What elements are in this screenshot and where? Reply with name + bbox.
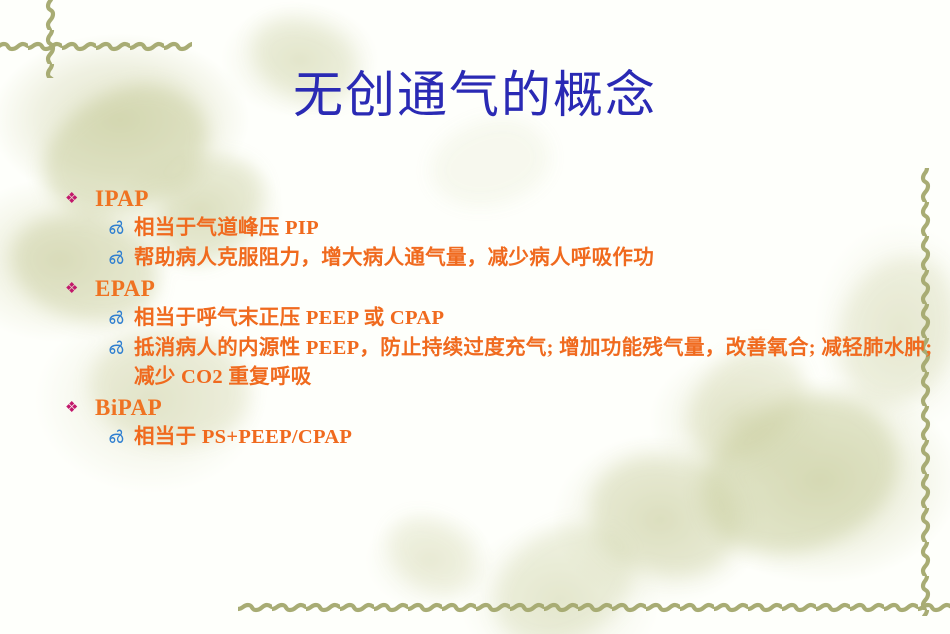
bullet-level2-label: 抵消病人的内源性 PEEP，防止持续过度充气; 增加功能残气量，改善氧合; 减轻… — [134, 334, 934, 392]
bullet-level1-label: BiPAP — [95, 394, 162, 422]
decor-wave-top-left-vertical — [45, 0, 56, 78]
slide-canvas: 无创通气的概念 ❖ IPAP ൴ 相当于气道峰压 PIP ൴ 帮助病人克服阻力，… — [0, 0, 950, 634]
diamond-bullet-icon: ❖ — [62, 185, 95, 213]
bullet-level2-label: 相当于呼气末正压 PEEP 或 CPAP — [134, 304, 444, 333]
diamond-bullet-icon: ❖ — [62, 394, 95, 422]
bullet-level1-ipap: ❖ IPAP — [62, 185, 940, 213]
bullet-level1-epap: ❖ EPAP — [62, 275, 940, 303]
bullet-level2-item: ൴ 抵消病人的内源性 PEEP，防止持续过度充气; 增加功能残气量，改善氧合; … — [62, 334, 940, 392]
bullet-level2-item: ൴ 相当于气道峰压 PIP — [62, 214, 940, 243]
scroll-bullet-icon: ൴ — [108, 214, 134, 243]
bullet-level1-label: IPAP — [95, 185, 149, 213]
decor-wave-top — [0, 41, 192, 52]
bullet-level2-item: ൴ 帮助病人克服阻力，增大病人通气量，减少病人呼吸作功 — [62, 244, 940, 273]
scroll-bullet-icon: ൴ — [108, 244, 134, 273]
bullet-level2-label: 帮助病人克服阻力，增大病人通气量，减少病人呼吸作功 — [134, 244, 654, 273]
decor-wave-bottom — [238, 602, 950, 613]
slide-body: ❖ IPAP ൴ 相当于气道峰压 PIP ൴ 帮助病人克服阻力，增大病人通气量，… — [62, 183, 940, 452]
bullet-level1-bipap: ❖ BiPAP — [62, 394, 940, 422]
slide-title: 无创通气的概念 — [0, 68, 950, 122]
bullet-level2-label: 相当于 PS+PEEP/CPAP — [134, 423, 352, 452]
bullet-level2-label: 相当于气道峰压 PIP — [134, 214, 319, 243]
bullet-level2-item: ൴ 相当于呼气末正压 PEEP 或 CPAP — [62, 304, 940, 333]
diamond-bullet-icon: ❖ — [62, 275, 95, 303]
bullet-level1-label: EPAP — [95, 275, 155, 303]
bullet-level2-item: ൴ 相当于 PS+PEEP/CPAP — [62, 423, 940, 452]
scroll-bullet-icon: ൴ — [108, 334, 134, 363]
scroll-bullet-icon: ൴ — [108, 423, 134, 452]
scroll-bullet-icon: ൴ — [108, 304, 134, 333]
